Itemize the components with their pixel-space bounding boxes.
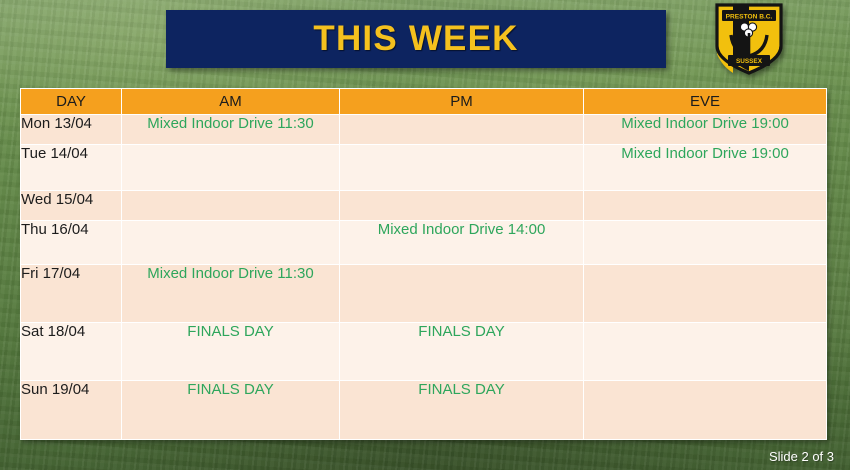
cell-eve: [584, 221, 827, 265]
cell-day: Sun 19/04: [21, 381, 122, 440]
club-crest-logo: PRESTON B.C. SUSSEX: [713, 2, 785, 76]
table-row: Sun 19/04FINALS DAYFINALS DAY: [21, 381, 827, 440]
slide-canvas: THIS WEEK PRESTON B.C. SUSSEX: [0, 0, 850, 470]
page-title: THIS WEEK: [313, 19, 518, 59]
cell-pm: [340, 265, 584, 323]
crest-icon: PRESTON B.C. SUSSEX: [713, 2, 785, 76]
cell-eve: [584, 265, 827, 323]
cell-eve: [584, 323, 827, 381]
cell-day: Fri 17/04: [21, 265, 122, 323]
cell-day: Wed 15/04: [21, 191, 122, 221]
cell-day: Sat 18/04: [21, 323, 122, 381]
cell-am: FINALS DAY: [122, 381, 340, 440]
slide-counter: Slide 2 of 3: [769, 449, 834, 464]
cell-pm: [340, 191, 584, 221]
cell-am: [122, 221, 340, 265]
cell-am: Mixed Indoor Drive 11:30: [122, 265, 340, 323]
column-header-eve: EVE: [584, 89, 827, 115]
cell-eve: Mixed Indoor Drive 19:00: [584, 145, 827, 191]
cell-am: FINALS DAY: [122, 323, 340, 381]
table-body: Mon 13/04Mixed Indoor Drive 11:30Mixed I…: [21, 115, 827, 440]
table-row: Thu 16/04Mixed Indoor Drive 14:00: [21, 221, 827, 265]
table-row: Fri 17/04Mixed Indoor Drive 11:30: [21, 265, 827, 323]
cell-day: Thu 16/04: [21, 221, 122, 265]
cell-day: Mon 13/04: [21, 115, 122, 145]
column-header-am: AM: [122, 89, 340, 115]
cell-pm: FINALS DAY: [340, 381, 584, 440]
crest-bottom-text: SUSSEX: [736, 58, 763, 65]
cell-am: Mixed Indoor Drive 11:30: [122, 115, 340, 145]
table-row: Wed 15/04: [21, 191, 827, 221]
cell-day: Tue 14/04: [21, 145, 122, 191]
table-row: Tue 14/04Mixed Indoor Drive 19:00: [21, 145, 827, 191]
cell-eve: Mixed Indoor Drive 19:00: [584, 115, 827, 145]
cell-pm: FINALS DAY: [340, 323, 584, 381]
table-row: Sat 18/04FINALS DAYFINALS DAY: [21, 323, 827, 381]
cell-pm: [340, 115, 584, 145]
title-banner: THIS WEEK: [166, 10, 666, 68]
cell-eve: [584, 191, 827, 221]
cell-am: [122, 191, 340, 221]
table-header: DAY AM PM EVE: [21, 89, 827, 115]
cell-pm: [340, 145, 584, 191]
cell-am: [122, 145, 340, 191]
column-header-pm: PM: [340, 89, 584, 115]
cell-pm: Mixed Indoor Drive 14:00: [340, 221, 584, 265]
table-row: Mon 13/04Mixed Indoor Drive 11:30Mixed I…: [21, 115, 827, 145]
table-header-row: DAY AM PM EVE: [21, 89, 827, 115]
column-header-day: DAY: [21, 89, 122, 115]
crest-top-text: PRESTON B.C.: [726, 13, 773, 20]
cell-eve: [584, 381, 827, 440]
weekly-schedule-table: DAY AM PM EVE Mon 13/04Mixed Indoor Driv…: [20, 88, 827, 440]
